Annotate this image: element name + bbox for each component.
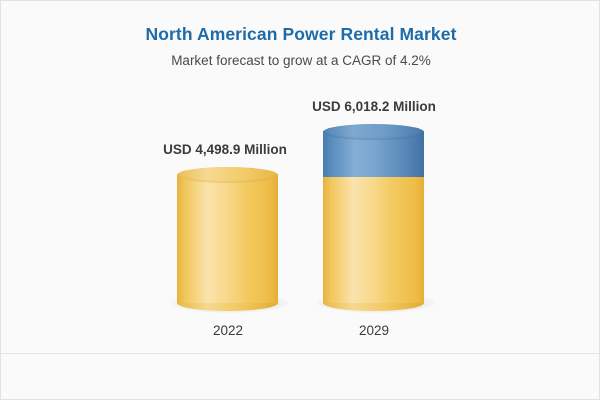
- bar-top-ellipse-2029: [323, 124, 424, 140]
- bar-segment-base-2029: [323, 177, 424, 303]
- bar-top-ellipse-2022: [177, 167, 278, 183]
- bar-value-label-2022: USD 4,498.9 Million: [105, 142, 345, 157]
- bar-body-2022: [177, 174, 278, 303]
- bar-category-label-2029: 2029: [274, 323, 474, 338]
- chart-card: North American Power Rental Market Marke…: [0, 0, 600, 400]
- footer: https://www.researchandmarkets.com/repor…: [1, 354, 600, 400]
- bar-value-label-2029: USD 6,018.2 Million: [254, 99, 494, 114]
- chart-plot-area: USD 4,498.9 Million 2022 USD 6,018.2 Mil…: [1, 1, 600, 351]
